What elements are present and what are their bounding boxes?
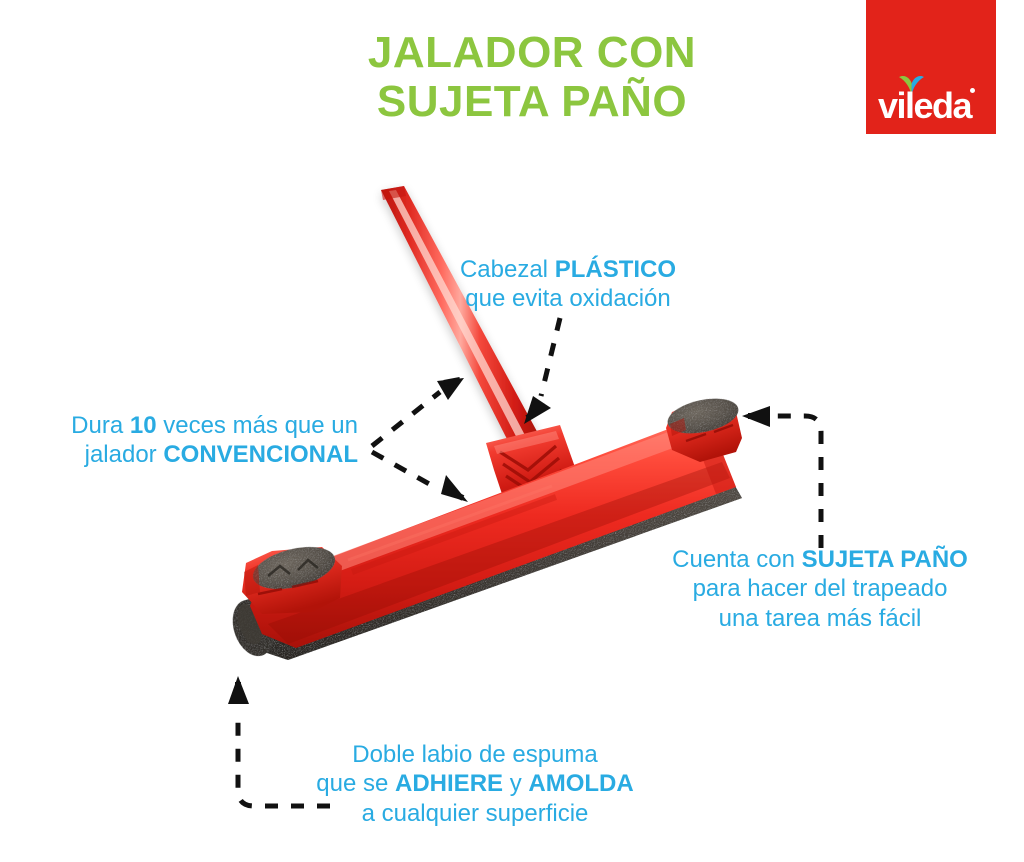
- clip-slots: [686, 425, 733, 441]
- callout-sujeta-pano: Cuenta con SUJETA PAÑO para hacer del tr…: [640, 545, 1000, 633]
- page-title: JALADOR CON SUJETA PAÑO: [212, 28, 852, 127]
- callout-sujeta-line-3: una tarea más fácil: [640, 604, 1000, 633]
- brand-logo: vileda: [866, 0, 996, 134]
- callout-espuma-line-1: Doble labio de espuma: [265, 740, 685, 769]
- callout-sujeta-line-2: para hacer del trapeado: [640, 574, 1000, 603]
- registered-mark-icon: [970, 88, 975, 93]
- cloth-clip-right: [664, 393, 742, 462]
- page-title-line-1: JALADOR CON: [212, 28, 852, 77]
- chevron-ribs: [500, 446, 562, 493]
- callout-cabezal-line-1: Cabezal PLÁSTICO: [418, 255, 718, 284]
- clip-pad-marks: [268, 560, 318, 576]
- infographic-canvas: JALADOR CON SUJETA PAÑO vileda Cabezal P…: [0, 0, 1024, 862]
- head-t-junction: [486, 425, 588, 512]
- callout-doble-labio-espuma: Doble labio de espuma que se ADHIERE y A…: [265, 740, 685, 828]
- callout-durabilidad: Dura 10 veces más que un jalador CONVENC…: [28, 411, 358, 470]
- callout-cabezal-line-2: que evita oxidación: [418, 284, 718, 313]
- arrow-to-head-plastic: [524, 318, 560, 424]
- cloth-clip-left: [242, 539, 342, 614]
- callout-espuma-line-3: a cualquier superficie: [265, 799, 685, 828]
- callout-sujeta-line-1: Cuenta con SUJETA PAÑO: [640, 545, 1000, 574]
- page-title-line-2: SUJETA PAÑO: [212, 77, 852, 126]
- clip-slots-left: [258, 581, 318, 594]
- callout-espuma-line-2: que se ADHIERE y AMOLDA: [265, 769, 685, 798]
- brand-wordmark: vileda: [878, 88, 986, 124]
- callout-cabezal-plastico: Cabezal PLÁSTICO que evita oxidación: [418, 255, 718, 314]
- handle-pole: [381, 186, 540, 449]
- callout-durabilidad-line-2: jalador CONVENCIONAL: [28, 440, 358, 469]
- arrow-to-right-clip: [742, 406, 821, 548]
- callout-durabilidad-line-1: Dura 10 veces más que un: [28, 411, 358, 440]
- arrow-forked-to-handle: [372, 378, 468, 502]
